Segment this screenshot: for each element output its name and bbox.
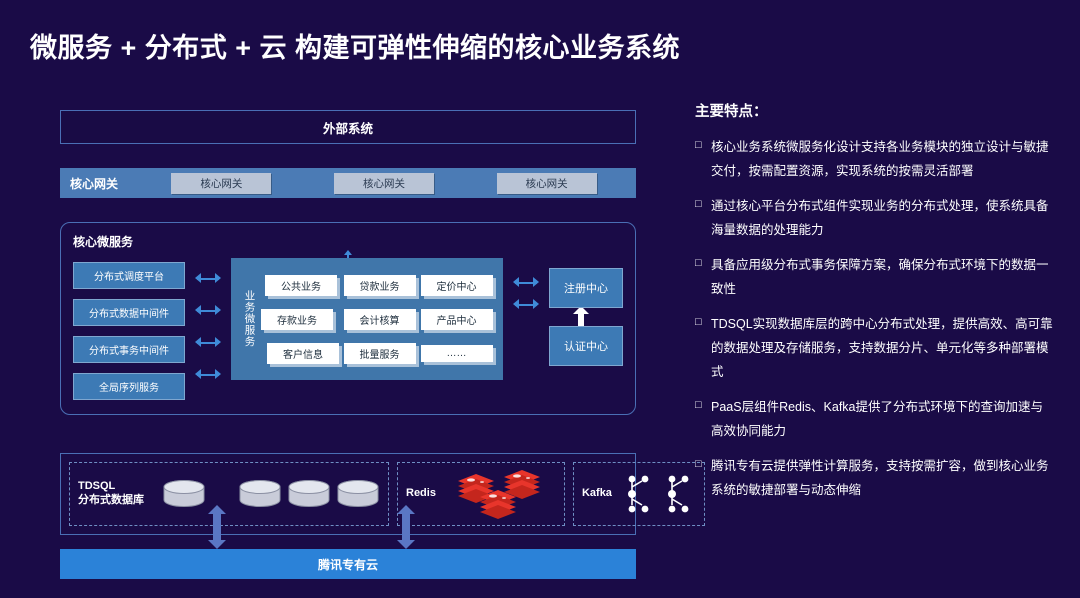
- gateway-chip: 核心网关: [171, 173, 271, 194]
- architecture-diagram: 外部系统 核心网关 核心网关 核心网关 核心网关 核心微服务 分布式调度平台: [60, 110, 636, 579]
- redis-stack-icon: [446, 469, 556, 519]
- middleware-column: 分布式调度平台 分布式数据中间件 分布式事务中间件 全局序列服务: [73, 258, 185, 400]
- bidirectional-arrow-icon: [195, 300, 221, 322]
- redis-box: Redis: [397, 462, 565, 526]
- features-title: 主要特点：: [695, 100, 1055, 121]
- database-cylinder-icon: [238, 479, 282, 509]
- service-box: 批量服务: [344, 343, 416, 364]
- microservices-row: 分布式调度平台 分布式数据中间件 分布式事务中间件 全局序列服务 业务微服务 公…: [73, 258, 623, 400]
- service-box: 存款业务: [261, 309, 333, 330]
- feature-text: 腾讯专有云提供弹性计算服务，支持按需扩容，做到核心业务系统的敏捷部署与动态伸缩: [711, 454, 1055, 502]
- redis-label: Redis: [406, 487, 436, 501]
- service-cell: 贷款业务: [341, 275, 418, 296]
- database-cylinder-icon: [336, 479, 380, 509]
- tencent-cloud-label: 腾讯专有云: [318, 556, 378, 573]
- registry-column: 注册中心 认证中心: [549, 258, 623, 376]
- service-box: 会计核算: [344, 309, 416, 330]
- arrow-stem: [213, 513, 221, 541]
- middleware-connector-arrows: [195, 258, 221, 386]
- middleware-box: 分布式事务中间件: [73, 336, 185, 363]
- database-cylinder-group: [162, 479, 380, 509]
- bullet-square-icon: □: [695, 395, 711, 416]
- database-cylinder-icon: [162, 479, 206, 509]
- feature-item: □ PaaS层组件Redis、Kafka提供了分布式环境下的查询加速与高效协同能…: [695, 395, 1055, 443]
- feature-text: 通过核心平台分布式组件实现业务的分布式处理，使系统具备海量数据的处理能力: [711, 194, 1055, 242]
- bullet-square-icon: □: [695, 194, 711, 215]
- service-box: 产品中心: [421, 309, 493, 330]
- tencent-cloud-bar: 腾讯专有云: [60, 549, 636, 579]
- registry-connector-arrows: [513, 258, 539, 330]
- bullet-square-icon: □: [695, 135, 711, 156]
- arrow-head-down: [208, 540, 226, 549]
- business-service-grid: 公共业务 贷款业务 定价中心 存款业务 会计核算 产品中心 客户信息 批量服务 …: [261, 268, 495, 370]
- arrow-head-down: [397, 540, 415, 549]
- service-cell: 产品中心: [418, 309, 495, 330]
- bidirectional-arrow-icon: [513, 294, 539, 316]
- service-cell: 客户信息: [261, 343, 341, 364]
- business-panel-vertical-label: 业务微服务: [239, 268, 261, 370]
- business-microservices-panel: 业务微服务 公共业务 贷款业务 定价中心 存款业务 会计核算 产品中心 客户信息…: [231, 258, 503, 380]
- service-box: 贷款业务: [344, 275, 416, 296]
- bullet-square-icon: □: [695, 253, 711, 274]
- service-cell: ……: [418, 345, 495, 362]
- data-layer: TDSQL 分布式数据库: [60, 453, 636, 535]
- arrow-stem: [402, 513, 410, 541]
- kafka-label: Kafka: [582, 487, 612, 501]
- microservices-data-arrow-left: [208, 505, 226, 549]
- kafka-cluster-icon: [620, 471, 696, 517]
- tdsql-label-line2: 分布式数据库: [78, 494, 144, 506]
- core-microservices-title: 核心微服务: [73, 233, 623, 250]
- feature-text: 核心业务系统微服务化设计支持各业务模块的独立设计与敏捷交付，按需配置资源，实现系…: [711, 135, 1055, 183]
- bullet-square-icon: □: [695, 454, 711, 475]
- slide-canvas: 微服务 + 分布式 + 云 构建可弹性伸缩的核心业务系统 外部系统 核心网关 核…: [0, 0, 1080, 598]
- gateway-chip: 核心网关: [497, 173, 597, 194]
- page-title: 微服务 + 分布式 + 云 构建可弹性伸缩的核心业务系统: [30, 26, 680, 65]
- service-box: 客户信息: [267, 343, 339, 364]
- tdsql-label-line1: TDSQL: [78, 480, 115, 492]
- registry-box: 注册中心: [549, 268, 623, 308]
- microservices-data-arrow-right: [397, 505, 415, 549]
- service-cell: 存款业务: [261, 309, 341, 330]
- feature-text: PaaS层组件Redis、Kafka提供了分布式环境下的查询加速与高效协同能力: [711, 395, 1055, 443]
- bidirectional-arrow-icon: [195, 268, 221, 290]
- gateway-chip-list: 核心网关 核心网关 核心网关: [140, 173, 636, 194]
- bidirectional-arrow-icon: [195, 364, 221, 386]
- tdsql-box: TDSQL 分布式数据库: [69, 462, 389, 526]
- external-system-label: 外部系统: [323, 118, 373, 137]
- bidirectional-arrow-icon: [513, 272, 539, 294]
- service-cell: 定价中心: [418, 275, 495, 296]
- feature-item: □ TDSQL实现数据库层的跨中心分布式处理，提供高效、高可靠的数据处理及存储服…: [695, 312, 1055, 384]
- registry-box: 认证中心: [549, 326, 623, 366]
- service-cell: 会计核算: [341, 309, 418, 330]
- service-box: 定价中心: [421, 275, 493, 296]
- feature-item: □ 通过核心平台分布式组件实现业务的分布式处理，使系统具备海量数据的处理能力: [695, 194, 1055, 242]
- feature-item: □ 腾讯专有云提供弹性计算服务，支持按需扩容，做到核心业务系统的敏捷部署与动态伸…: [695, 454, 1055, 502]
- service-box: 公共业务: [265, 275, 337, 296]
- feature-item: □ 具备应用级分布式事务保障方案，确保分布式环境下的数据一致性: [695, 253, 1055, 301]
- bullet-square-icon: □: [695, 312, 711, 333]
- feature-text: 具备应用级分布式事务保障方案，确保分布式环境下的数据一致性: [711, 253, 1055, 301]
- middleware-box: 全局序列服务: [73, 373, 185, 400]
- core-microservices-panel: 核心微服务 分布式调度平台 分布式数据中间件 分布式事务中间件 全局序列服务 业…: [60, 222, 636, 415]
- service-cell: 公共业务: [261, 275, 341, 296]
- feature-item: □ 核心业务系统微服务化设计支持各业务模块的独立设计与敏捷交付，按需配置资源，实…: [695, 135, 1055, 183]
- database-cylinder-icon: [287, 479, 331, 509]
- service-box: ……: [421, 345, 493, 362]
- bidirectional-arrow-icon: [195, 332, 221, 354]
- middleware-box: 分布式数据中间件: [73, 299, 185, 326]
- service-cell: 批量服务: [341, 343, 418, 364]
- external-system-box: 外部系统: [60, 110, 636, 144]
- tdsql-label: TDSQL 分布式数据库: [78, 480, 144, 508]
- middleware-box: 分布式调度平台: [73, 262, 185, 289]
- features-panel: 主要特点： □ 核心业务系统微服务化设计支持各业务模块的独立设计与敏捷交付，按需…: [695, 100, 1055, 513]
- gateway-chip: 核心网关: [334, 173, 434, 194]
- core-gateway-bar: 核心网关 核心网关 核心网关 核心网关: [60, 168, 636, 198]
- core-gateway-title: 核心网关: [60, 175, 140, 192]
- feature-text: TDSQL实现数据库层的跨中心分布式处理，提供高效、高可靠的数据处理及存储服务，…: [711, 312, 1055, 384]
- kafka-box: Kafka: [573, 462, 705, 526]
